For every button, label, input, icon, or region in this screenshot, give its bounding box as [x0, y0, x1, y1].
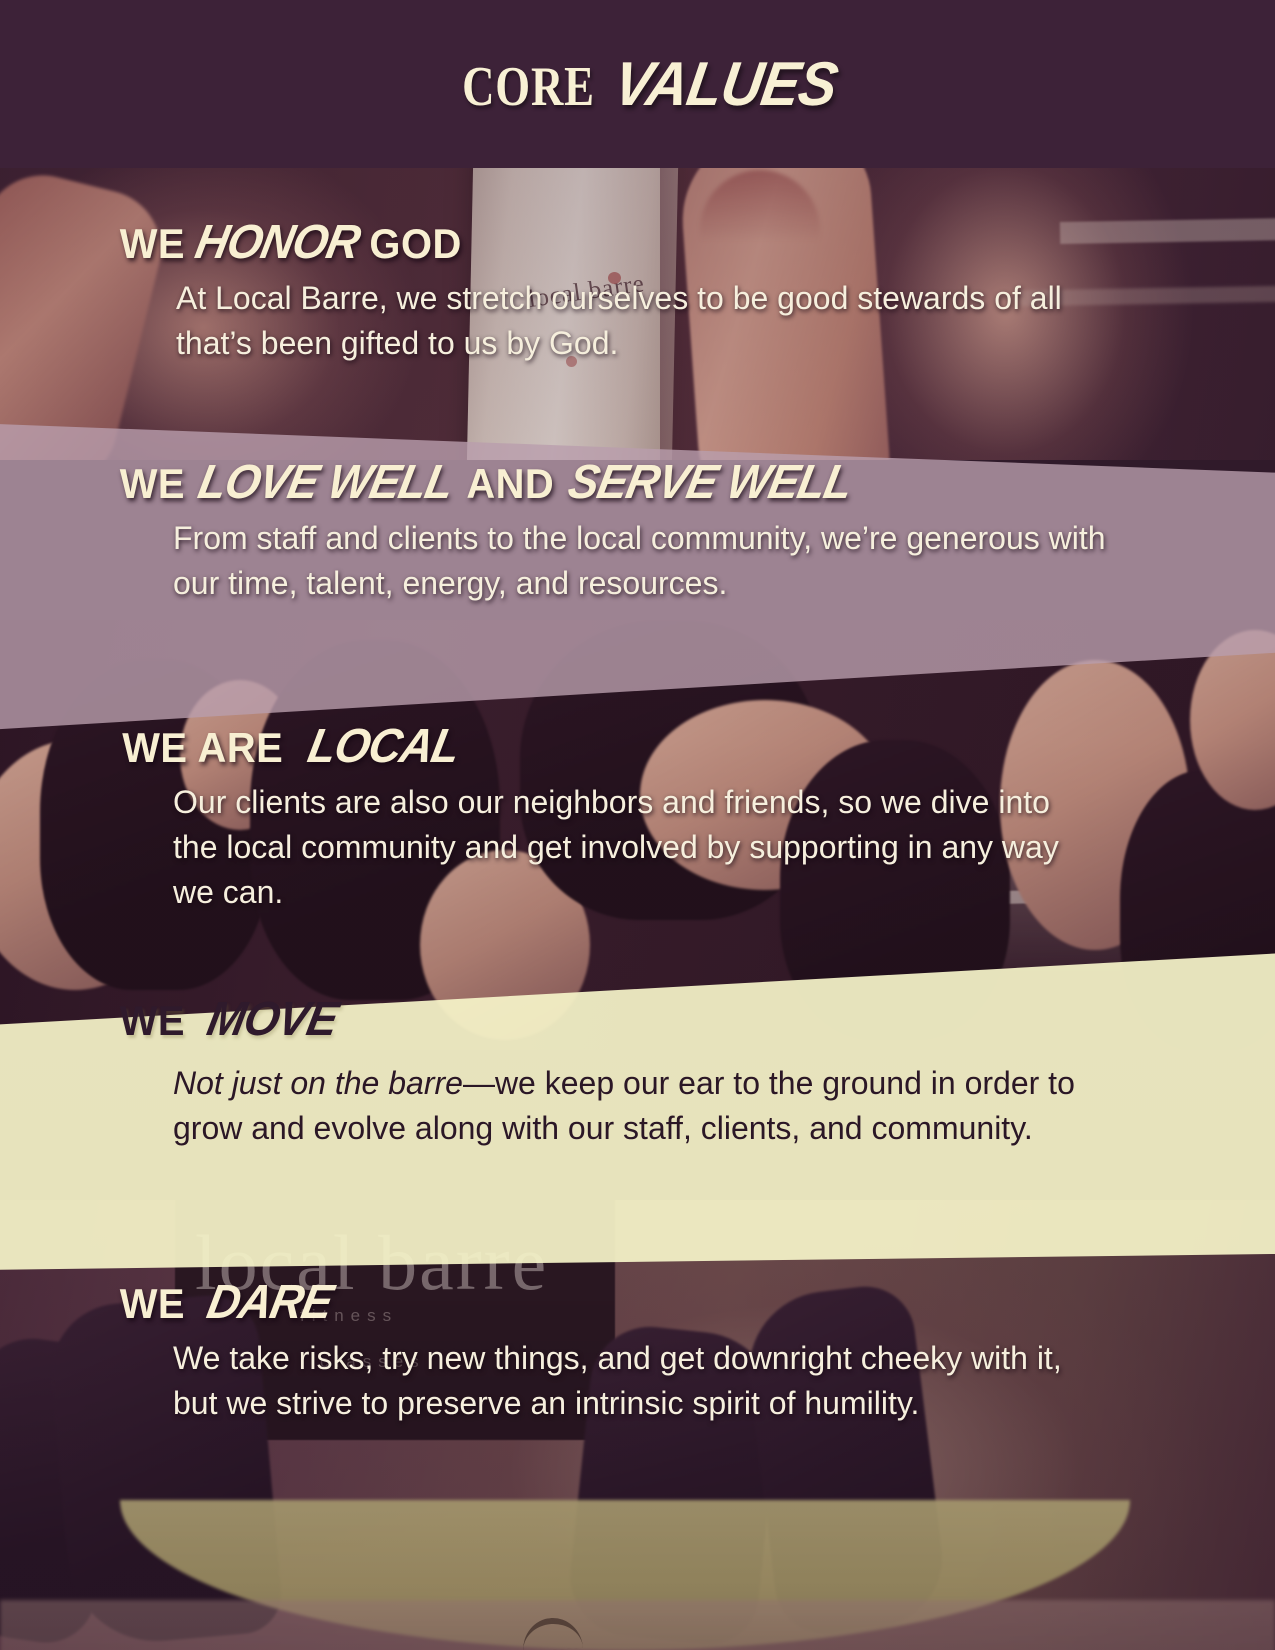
value-body-move: Not just on the barre—we keep our ear to… — [173, 1061, 1118, 1151]
value-heading-dare: WE DARE — [118, 1278, 1063, 1328]
value-block-move: WE MOVE Not just on the barre—we keep ou… — [118, 995, 1118, 1151]
poster-title-bar: CORE VALUES — [0, 0, 1275, 168]
value-heading-love-serve: WE LOVE WELL AND SERVE WELL — [118, 458, 1138, 508]
value-block-honor-god: WE HONOR GOD At Local Barre, we stretch … — [118, 218, 1106, 366]
value-block-dare: WE DARE We take risks, try new things, a… — [118, 1278, 1063, 1426]
heading-script: MOVE — [199, 995, 345, 1045]
page-title: CORE VALUES — [429, 49, 846, 120]
title-word-core: CORE — [462, 55, 595, 119]
heading-suffix: GOD — [370, 222, 462, 266]
value-body-dare: We take risks, try new things, and get d… — [173, 1336, 1063, 1426]
heading-script: LOVE WELL — [190, 458, 460, 508]
heading-prefix: WE — [120, 462, 185, 506]
heading-prefix: WE — [120, 222, 185, 266]
value-heading-move: WE MOVE — [118, 995, 1118, 1045]
heading-prefix: WE — [120, 1282, 185, 1326]
title-word-values: VALUES — [609, 49, 842, 120]
core-values-poster: local barre — [0, 0, 1275, 1650]
value-body-love-serve: From staff and clients to the local comm… — [173, 516, 1138, 606]
heading-prefix: WE — [120, 999, 185, 1043]
heading-script: HONOR — [187, 218, 367, 268]
value-block-local: WE ARE LOCAL Our clients are also our ne… — [118, 722, 1073, 915]
value-body-move-italic: Not just on the barre — [173, 1065, 463, 1101]
heading-middle: AND — [466, 462, 554, 506]
value-heading-honor-god: WE HONOR GOD — [118, 218, 1106, 268]
heading-script-2: SERVE WELL — [561, 458, 860, 508]
heading-script: LOCAL — [301, 722, 468, 772]
value-heading-local: WE ARE LOCAL — [118, 722, 1073, 772]
heading-prefix: WE ARE — [122, 726, 283, 770]
value-block-love-serve: WE LOVE WELL AND SERVE WELL From staff a… — [118, 458, 1138, 606]
value-body-honor-god: At Local Barre, we stretch ourselves to … — [176, 276, 1106, 366]
heading-script: DARE — [199, 1278, 340, 1328]
value-body-local: Our clients are also our neighbors and f… — [173, 780, 1073, 915]
